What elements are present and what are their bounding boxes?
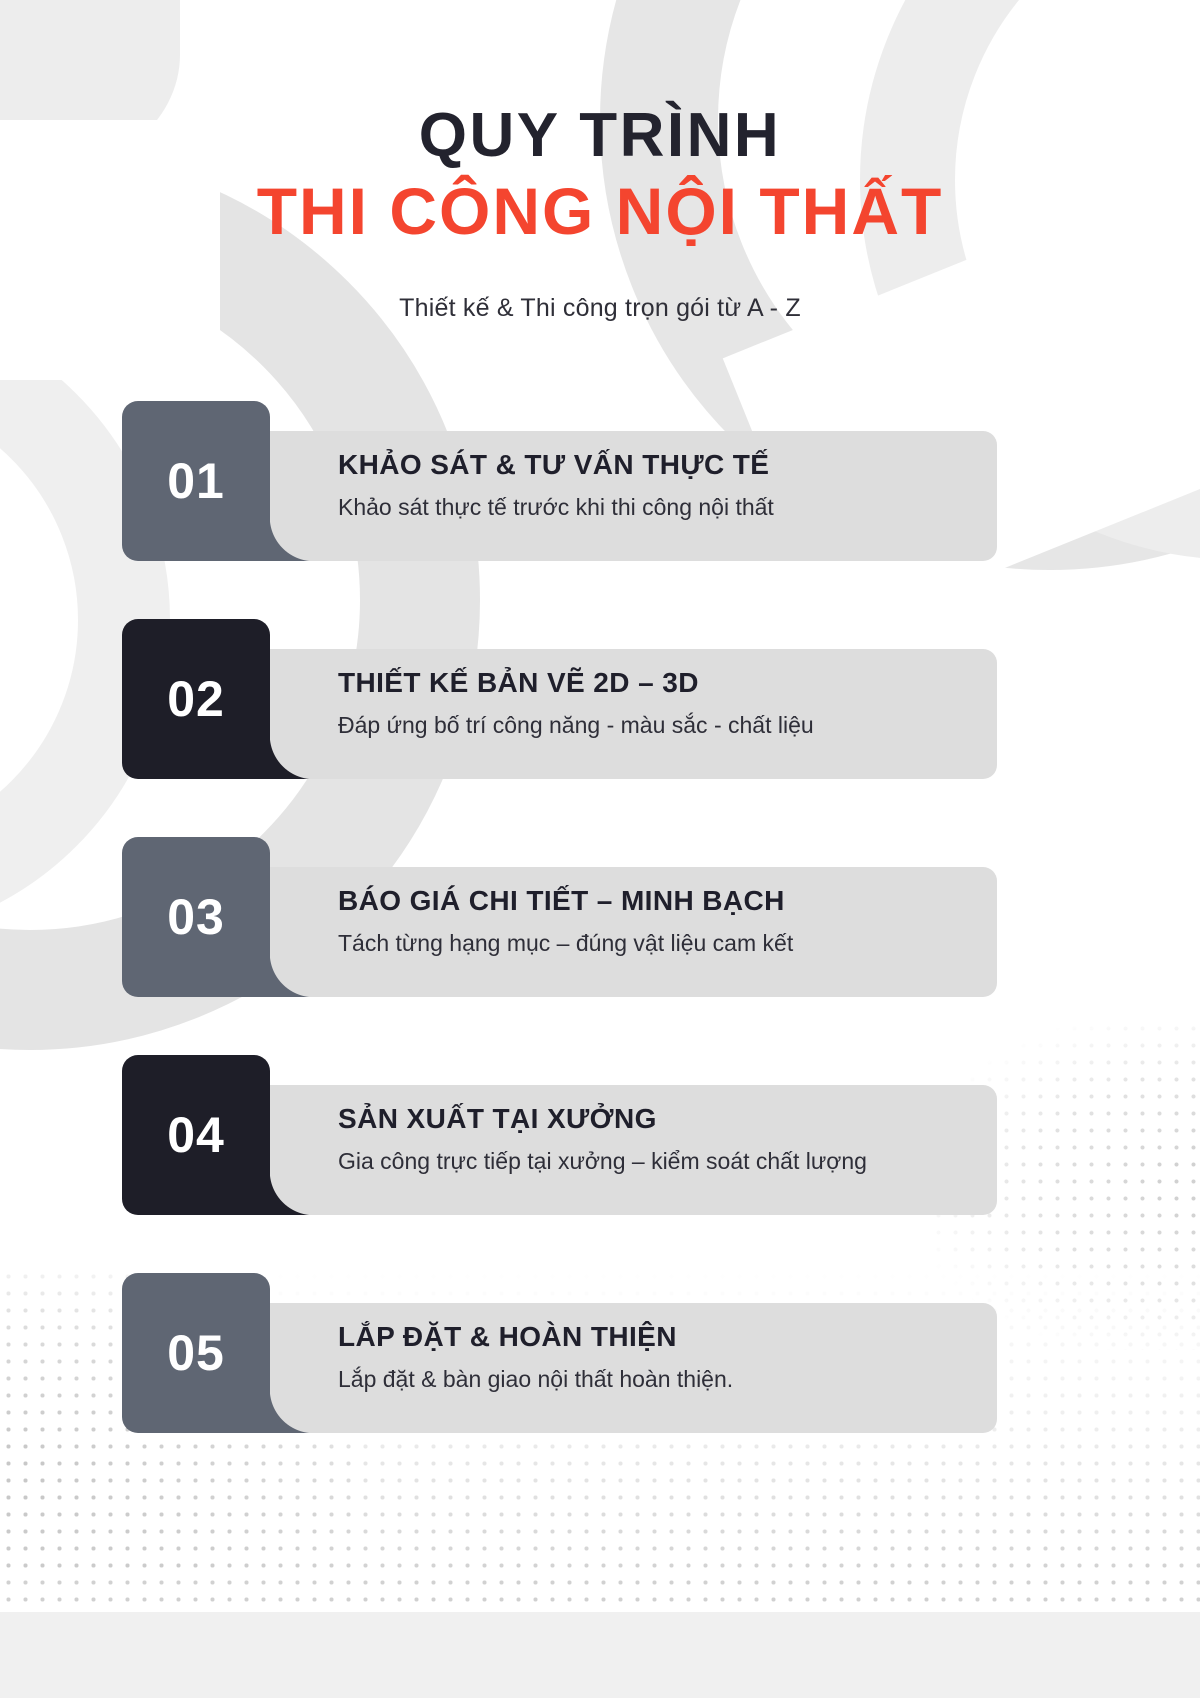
step-number-badge: 03	[122, 837, 270, 997]
process-step: 05 LẮP ĐẶT & HOÀN THIỆN Lắp đặt & bàn gi…	[0, 1273, 1200, 1433]
process-step: 03 BÁO GIÁ CHI TIẾT – MINH BẠCH Tách từn…	[0, 837, 1200, 997]
step-title: KHẢO SÁT & TƯ VẤN THỰC TẾ	[338, 449, 980, 481]
step-title: SẢN XUẤT TẠI XƯỞNG	[338, 1103, 980, 1135]
step-title: THIẾT KẾ BẢN VẼ 2D – 3D	[338, 667, 980, 699]
step-text-block: BÁO GIÁ CHI TIẾT – MINH BẠCH Tách từng h…	[338, 885, 980, 957]
step-number-badge: 02	[122, 619, 270, 779]
step-description: Đáp ứng bố trí công năng - màu sắc - chấ…	[338, 712, 980, 739]
step-number: 03	[167, 888, 225, 946]
step-number-badge: 05	[122, 1273, 270, 1433]
step-number: 01	[167, 452, 225, 510]
step-text-block: SẢN XUẤT TẠI XƯỞNG Gia công trực tiếp tạ…	[338, 1103, 980, 1175]
step-description: Tách từng hạng mục – đúng vật liệu cam k…	[338, 930, 980, 957]
step-description: Khảo sát thực tế trước khi thi công nội …	[338, 494, 980, 521]
process-step: 01 KHẢO SÁT & TƯ VẤN THỰC TẾ Khảo sát th…	[0, 401, 1200, 561]
process-steps-list: 01 KHẢO SÁT & TƯ VẤN THỰC TẾ Khảo sát th…	[0, 401, 1200, 1433]
page-title-line-1: QUY TRÌNH	[0, 104, 1200, 168]
step-text-block: LẮP ĐẶT & HOÀN THIỆN Lắp đặt & bàn giao …	[338, 1321, 980, 1393]
poster-header: QUY TRÌNH THI CÔNG NỘI THẤT Thiết kế & T…	[0, 0, 1200, 323]
step-title: LẮP ĐẶT & HOÀN THIỆN	[338, 1321, 980, 1353]
step-description: Lắp đặt & bàn giao nội thất hoàn thiện.	[338, 1366, 980, 1393]
step-text-block: KHẢO SÁT & TƯ VẤN THỰC TẾ Khảo sát thực …	[338, 449, 980, 521]
step-number-badge: 01	[122, 401, 270, 561]
page-title-line-2: THI CÔNG NỘI THẤT	[0, 176, 1200, 247]
page-subtitle: Thiết kế & Thi công trọn gói từ A - Z	[0, 294, 1200, 323]
bottom-grey-band	[0, 1612, 1200, 1698]
infographic-poster: QUY TRÌNH THI CÔNG NỘI THẤT Thiết kế & T…	[0, 0, 1200, 1698]
process-step: 04 SẢN XUẤT TẠI XƯỞNG Gia công trực tiếp…	[0, 1055, 1200, 1215]
step-number-badge: 04	[122, 1055, 270, 1215]
step-number: 04	[167, 1106, 225, 1164]
step-title: BÁO GIÁ CHI TIẾT – MINH BẠCH	[338, 885, 980, 917]
step-number: 02	[167, 670, 225, 728]
step-number: 05	[167, 1324, 225, 1382]
process-step: 02 THIẾT KẾ BẢN VẼ 2D – 3D Đáp ứng bố tr…	[0, 619, 1200, 779]
step-text-block: THIẾT KẾ BẢN VẼ 2D – 3D Đáp ứng bố trí c…	[338, 667, 980, 739]
step-description: Gia công trực tiếp tại xưởng – kiểm soát…	[338, 1148, 980, 1175]
